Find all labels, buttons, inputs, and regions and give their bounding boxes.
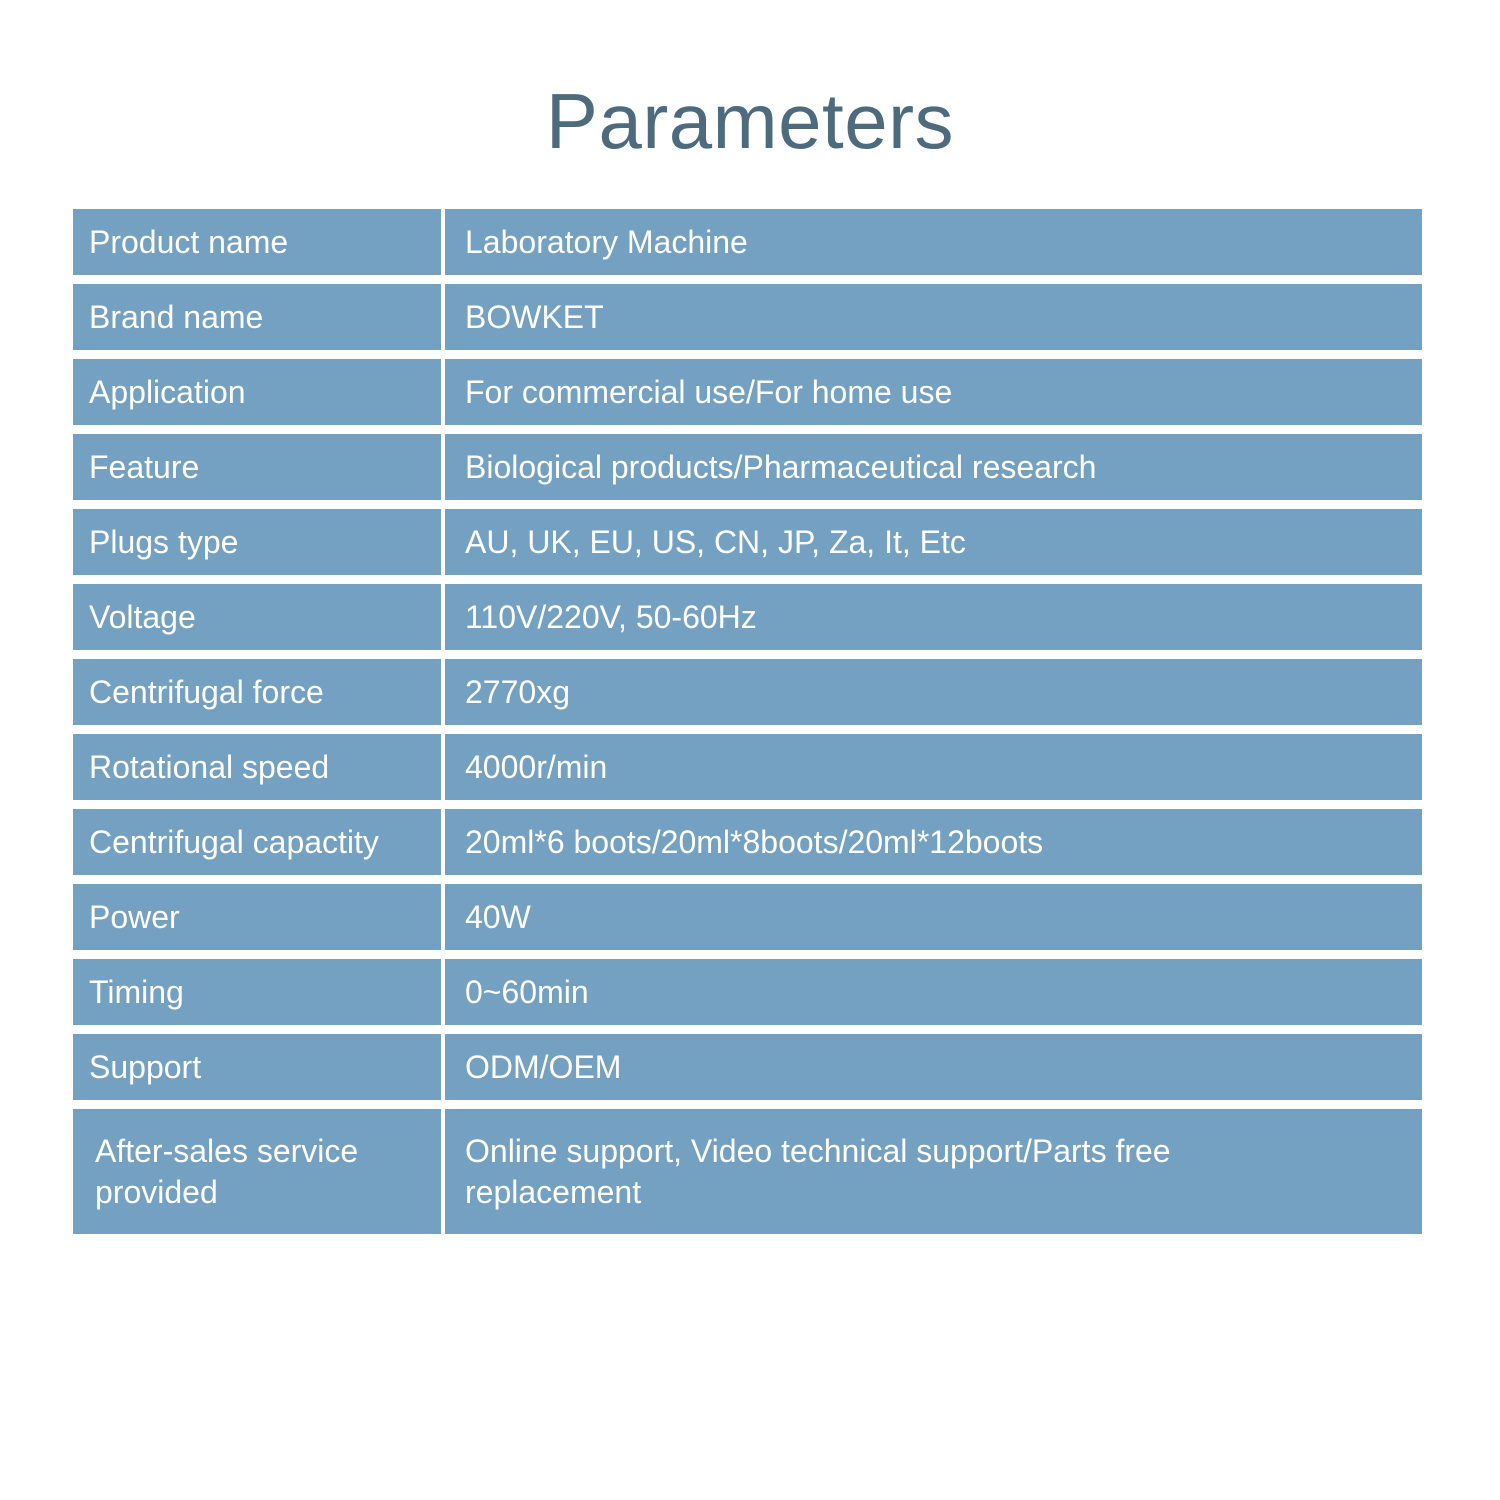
table-row: Centrifugal capactity 20ml*6 boots/20ml*… — [73, 809, 1422, 875]
specifications-table: Product name Laboratory Machine Brand na… — [73, 209, 1422, 1234]
spec-value: BOWKET — [445, 284, 1422, 350]
spec-value: 4000r/min — [445, 734, 1422, 800]
table-row: Power 40W — [73, 884, 1422, 950]
spec-value: ODM/OEM — [445, 1034, 1422, 1100]
table-row: Timing 0~60min — [73, 959, 1422, 1025]
spec-label: Voltage — [73, 584, 441, 650]
spec-label: Brand name — [73, 284, 441, 350]
table-row: Feature Biological products/Pharmaceutic… — [73, 434, 1422, 500]
spec-value: Laboratory Machine — [445, 209, 1422, 275]
spec-value: AU, UK, EU, US, CN, JP, Za, It, Etc — [445, 509, 1422, 575]
table-row: Brand name BOWKET — [73, 284, 1422, 350]
table-row: Support ODM/OEM — [73, 1034, 1422, 1100]
spec-value: Biological products/Pharmaceutical resea… — [445, 434, 1422, 500]
spec-label: Plugs type — [73, 509, 441, 575]
spec-label: Feature — [73, 434, 441, 500]
table-row: Centrifugal force 2770xg — [73, 659, 1422, 725]
parameters-page: Parameters Product name Laboratory Machi… — [0, 0, 1500, 1500]
spec-label: Centrifugal force — [73, 659, 441, 725]
spec-value: 0~60min — [445, 959, 1422, 1025]
spec-value: 40W — [445, 884, 1422, 950]
table-row: Rotational speed 4000r/min — [73, 734, 1422, 800]
spec-value: For commercial use/For home use — [445, 359, 1422, 425]
spec-value: 110V/220V, 50-60Hz — [445, 584, 1422, 650]
spec-label: Centrifugal capactity — [73, 809, 441, 875]
table-row: Plugs type AU, UK, EU, US, CN, JP, Za, I… — [73, 509, 1422, 575]
spec-value: Online support, Video technical support/… — [445, 1109, 1422, 1234]
spec-value: 2770xg — [445, 659, 1422, 725]
spec-value: 20ml*6 boots/20ml*8boots/20ml*12boots — [445, 809, 1422, 875]
spec-label: Support — [73, 1034, 441, 1100]
table-row: Product name Laboratory Machine — [73, 209, 1422, 275]
page-title: Parameters — [0, 82, 1500, 160]
table-row: After-sales service provided Online supp… — [73, 1109, 1422, 1234]
table-row: Application For commercial use/For home … — [73, 359, 1422, 425]
spec-label: Application — [73, 359, 441, 425]
spec-label: Product name — [73, 209, 441, 275]
spec-label: Power — [73, 884, 441, 950]
spec-label: After-sales service provided — [73, 1109, 441, 1234]
spec-label: Rotational speed — [73, 734, 441, 800]
table-row: Voltage 110V/220V, 50-60Hz — [73, 584, 1422, 650]
spec-label: Timing — [73, 959, 441, 1025]
